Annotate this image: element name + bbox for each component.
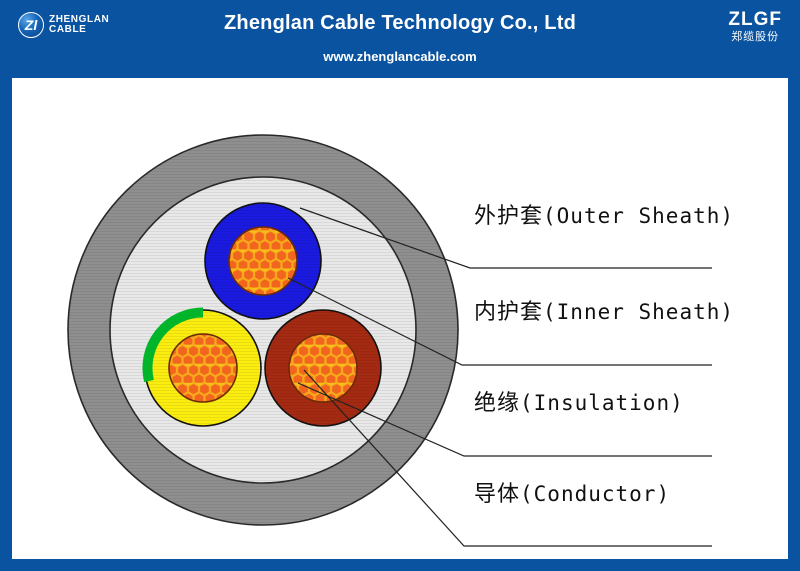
frame-border-bottom (0, 559, 800, 571)
conductor-brown (289, 334, 357, 402)
page-root: Zl ZHENGLAN CABLE Zhenglan Cable Technol… (0, 0, 800, 571)
header-banner: Zl ZHENGLAN CABLE Zhenglan Cable Technol… (0, 0, 800, 78)
page-title: Zhenglan Cable Technology Co., Ltd (0, 12, 800, 35)
core-brown (265, 310, 381, 426)
logo-right-sub-text: 郑缆股份 (728, 30, 782, 43)
company-logo-right: ZLGF 郑缆股份 (728, 10, 782, 43)
callout-conductor: 导体(Conductor) (474, 476, 670, 508)
core-blue (205, 203, 321, 319)
callout-inner-sheath: 内护套(Inner Sheath) (474, 294, 734, 326)
callout-outer-sheath: 外护套(Outer Sheath) (474, 198, 734, 230)
callout-conductor-en: (Conductor) (520, 482, 670, 506)
callout-insulation-cn: 绝缘 (474, 391, 520, 416)
website-url: www.zhenglancable.com (0, 49, 800, 64)
core-yellow-green (145, 310, 261, 426)
frame-border-left (0, 0, 12, 571)
callout-inner-sheath-cn: 内护套 (474, 300, 543, 325)
callout-conductor-cn: 导体 (474, 482, 520, 507)
logo-right-main-text: ZLGF (728, 10, 782, 30)
conductor-blue (229, 227, 297, 295)
callout-insulation: 绝缘(Insulation) (474, 385, 684, 417)
callout-outer-sheath-cn: 外护套 (474, 204, 543, 229)
frame-border-right (788, 0, 800, 571)
conductor-yellow (169, 334, 237, 402)
callout-inner-sheath-en: (Inner Sheath) (543, 300, 734, 324)
callout-outer-sheath-en: (Outer Sheath) (543, 204, 734, 228)
callout-insulation-en: (Insulation) (520, 391, 684, 415)
